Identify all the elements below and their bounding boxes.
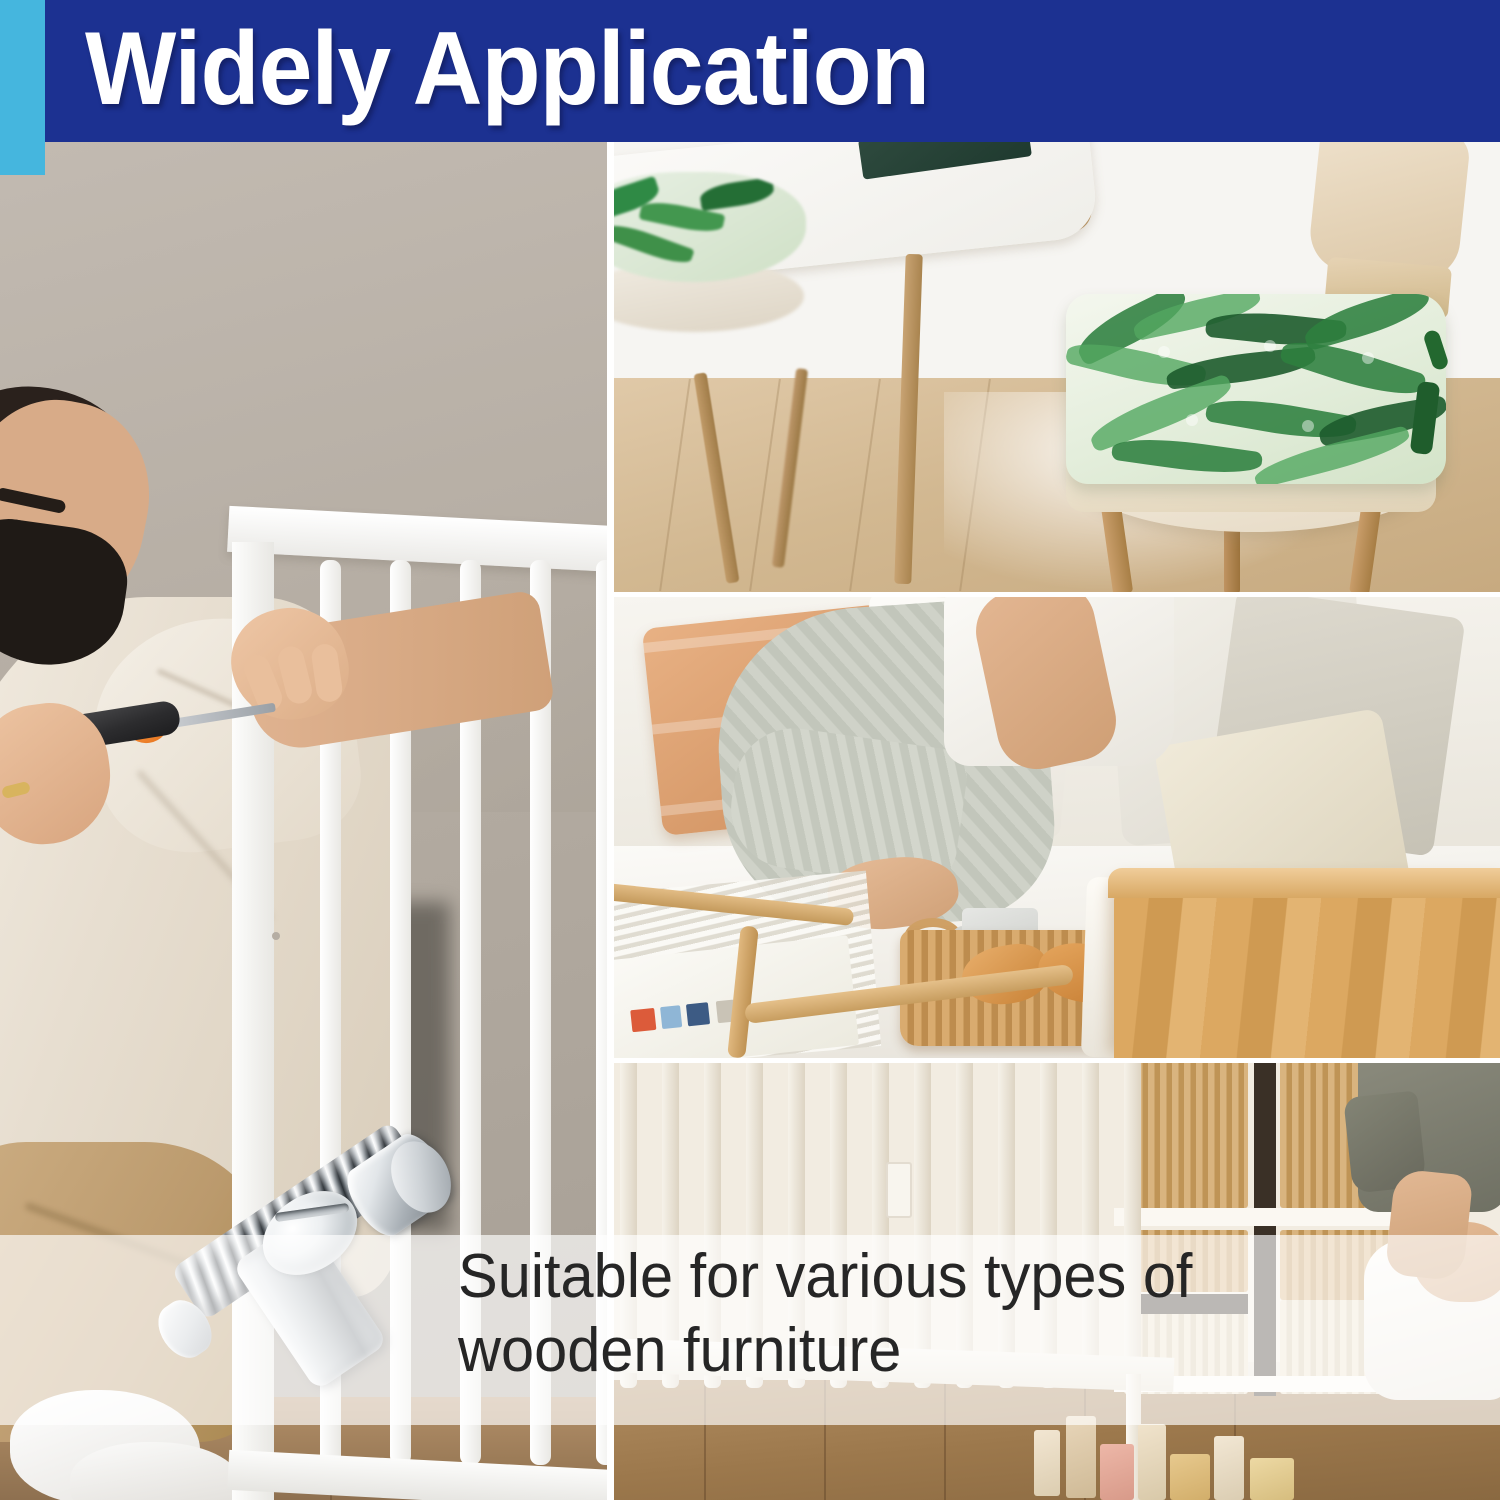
caption-text: Suitable for various types of wooden fur… xyxy=(458,1240,1284,1388)
page-title: Widely Application xyxy=(85,14,929,124)
grid-gutter-horizontal xyxy=(614,592,1500,597)
panel-dining-chair xyxy=(614,142,1500,592)
panel-sofa xyxy=(614,596,1500,1058)
sofa-photo xyxy=(614,596,1500,1058)
grid-gutter-horizontal xyxy=(614,1058,1500,1063)
accent-strip xyxy=(0,0,45,175)
dining-chair-photo xyxy=(614,142,1500,592)
marketing-image-canvas: Suitable for various types of wooden fur… xyxy=(0,0,1500,1500)
wall-outlet xyxy=(886,1162,912,1218)
palm-leaf-seat-cushion xyxy=(1066,294,1446,484)
